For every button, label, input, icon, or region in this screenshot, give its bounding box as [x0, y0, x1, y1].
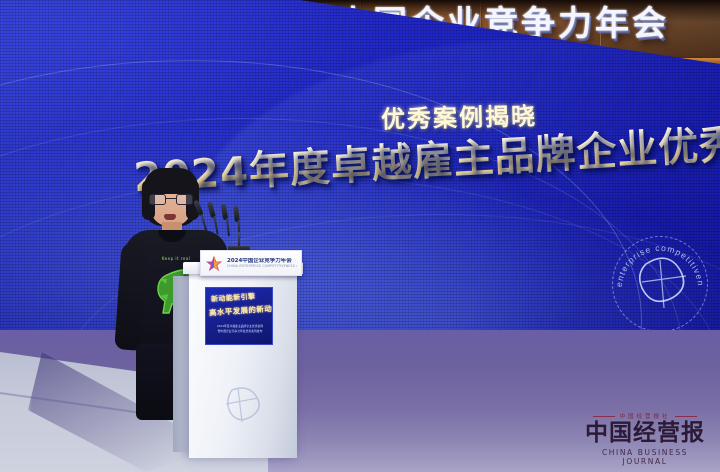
- emblem-arc-text: enterprise competitiveness: [612, 236, 708, 332]
- podium-banner-footnote2: 暨中国企业竞争力年会优秀案例发布: [212, 329, 268, 334]
- conference-stage-photo: 中国企业竞争力年会 2024年度卓越雇主品牌企业优秀案例 优秀案例揭晓 2024…: [0, 0, 720, 472]
- podium-banner-line1: 新动能新引擎: [211, 291, 256, 304]
- conference-logo-icon: [205, 254, 223, 272]
- podium-banner: 新动能新引擎 高水平发展的新动力 2024年度卓越雇主品牌企业优秀案例 暨中国企…: [205, 287, 273, 345]
- watermark: 中国经营报社 中国经营报 CHINA BUSINESS JOURNAL: [578, 412, 712, 466]
- watermark-top-line: 中国经营报社: [578, 412, 712, 420]
- watermark-main: 中国经营报: [578, 422, 712, 445]
- podium-name-plate: 2024中国企业竞争力年会 CHINA ENTERPRISE COMPETITI…: [200, 250, 302, 276]
- enterprise-emblem: enterprise competitiveness: [612, 236, 708, 332]
- podium-emblem-icon: [214, 382, 266, 440]
- sweater-text: Keep it real: [154, 256, 198, 261]
- watermark-subtitle: CHINA BUSINESS JOURNAL: [578, 448, 712, 466]
- glasses-icon: [149, 194, 193, 205]
- podium-banner-line2: 高水平发展的新动力: [209, 303, 273, 319]
- plate-subtitle: CHINA ENTERPRISE COMPETITIVENESS ANNUAL …: [227, 264, 297, 268]
- plate-title: 2024中国企业竞争力年会: [227, 258, 297, 265]
